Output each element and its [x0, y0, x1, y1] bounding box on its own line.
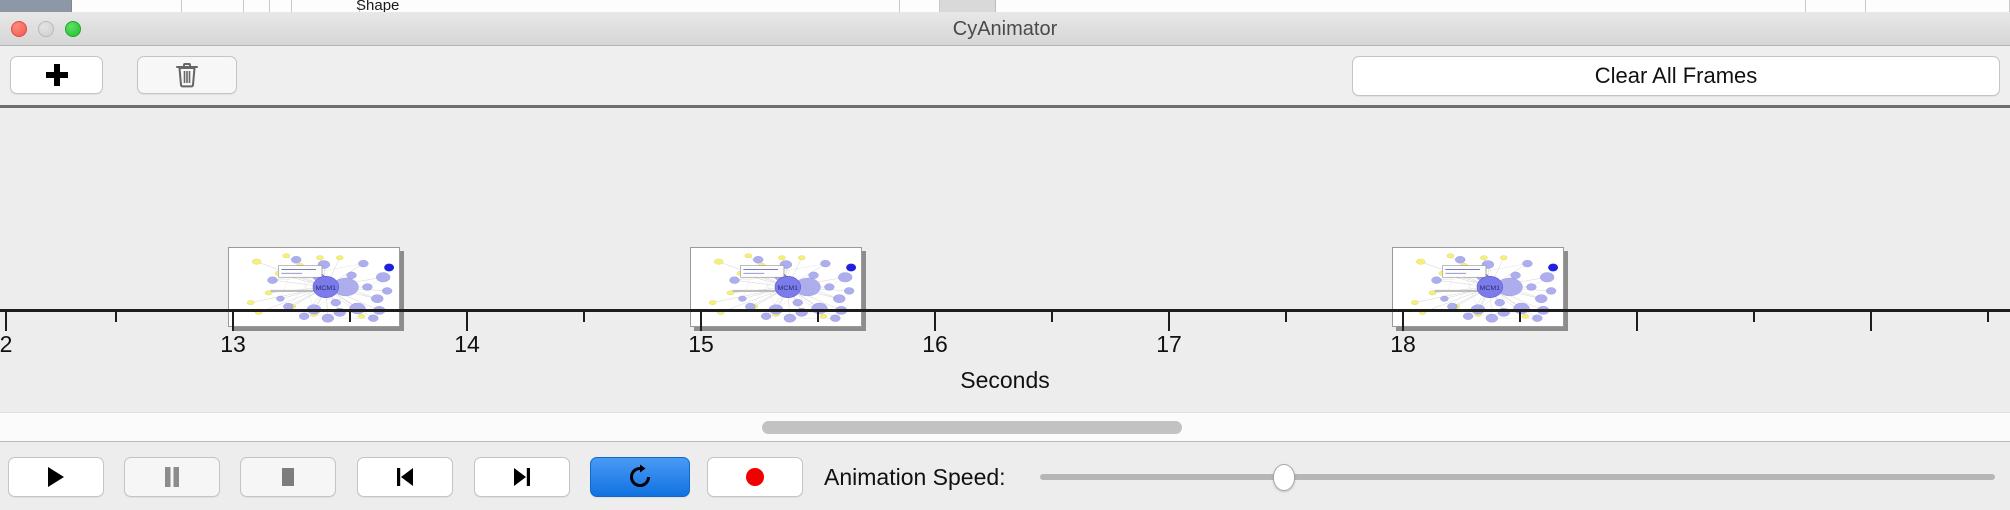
ruler-tick-major — [1402, 312, 1404, 331]
ruler-tick-label: 16 — [922, 331, 948, 358]
slider-thumb[interactable] — [1273, 464, 1295, 491]
ruler-tick-label: 14 — [454, 331, 480, 358]
ruler-tick-minor — [817, 312, 819, 322]
record-button[interactable] — [707, 457, 803, 497]
svg-text:MCM1: MCM1 — [1480, 285, 1501, 292]
add-frame-button[interactable] — [10, 56, 103, 94]
ruler-tick-minor — [1051, 312, 1053, 322]
pause-icon — [161, 465, 183, 489]
play-icon — [45, 465, 67, 489]
record-icon — [743, 465, 767, 489]
pause-button[interactable] — [124, 457, 220, 497]
ruler-tick-major — [466, 312, 468, 331]
ruler-tick-minor — [583, 312, 585, 322]
axis-caption: Seconds — [0, 367, 2010, 394]
ruler-tick-label: 2 — [0, 331, 12, 358]
stop-button[interactable] — [240, 457, 336, 497]
ruler-baseline — [0, 309, 2010, 312]
loop-button[interactable] — [590, 457, 690, 497]
timeline-scrollbar[interactable] — [0, 412, 2010, 442]
ruler-tick-minor — [115, 312, 117, 322]
ruler-tick-label: 13 — [220, 331, 246, 358]
time-ruler[interactable]: 2131415161718 Seconds — [0, 309, 2010, 412]
title-bar: CyAnimator — [0, 12, 2010, 46]
ruler-tick-major — [700, 312, 702, 331]
background-window-strip: Shape — [0, 0, 2010, 12]
loop-icon — [627, 464, 653, 490]
ruler-tick-minor — [1753, 312, 1755, 322]
ruler-tick-minor — [1519, 312, 1521, 322]
ruler-tick-major — [1168, 312, 1170, 331]
svg-text:MCM1: MCM1 — [778, 285, 799, 292]
trash-icon — [175, 62, 199, 88]
ruler-tick-label: 15 — [688, 331, 714, 358]
skip-end-icon — [510, 465, 534, 489]
skip-start-button[interactable] — [357, 457, 453, 497]
animation-speed-label: Animation Speed: — [824, 457, 1006, 497]
ruler-tick-label: 17 — [1156, 331, 1182, 358]
cyanimator-window: Shape CyAnimator Clear All Frames MCM1MC… — [0, 0, 2010, 510]
ruler-tick-major — [232, 312, 234, 331]
ruler-tick-minor — [1636, 312, 1638, 322]
play-button[interactable] — [8, 457, 104, 497]
delete-frame-button[interactable] — [137, 56, 237, 94]
ruler-tick-minor — [1987, 312, 1989, 322]
ruler-tick-label: 18 — [1390, 331, 1416, 358]
slider-track — [1040, 474, 1995, 480]
ruler-tick-minor — [1870, 312, 1872, 322]
clear-all-frames-button[interactable]: Clear All Frames — [1352, 56, 2000, 96]
stop-icon — [277, 465, 299, 489]
timeline-panel[interactable]: MCM1MCM1MCM1 2131415161718 Seconds — [0, 111, 2010, 412]
plus-icon — [46, 64, 68, 86]
skip-end-button[interactable] — [474, 457, 570, 497]
ruler-tick-minor — [1285, 312, 1287, 322]
ruler-tick-minor — [349, 312, 351, 322]
svg-text:MCM1: MCM1 — [316, 285, 337, 292]
animation-speed-slider[interactable] — [1040, 457, 1995, 497]
frame-toolbar: Clear All Frames — [0, 46, 2010, 108]
window-title: CyAnimator — [0, 12, 2010, 46]
ruler-tick-major — [934, 312, 936, 331]
ruler-tick-major — [5, 312, 7, 331]
playback-bar: Animation Speed: — [0, 443, 2010, 510]
background-window-label: Shape — [356, 0, 399, 12]
skip-start-icon — [393, 465, 417, 489]
scrollbar-thumb[interactable] — [762, 421, 1182, 434]
